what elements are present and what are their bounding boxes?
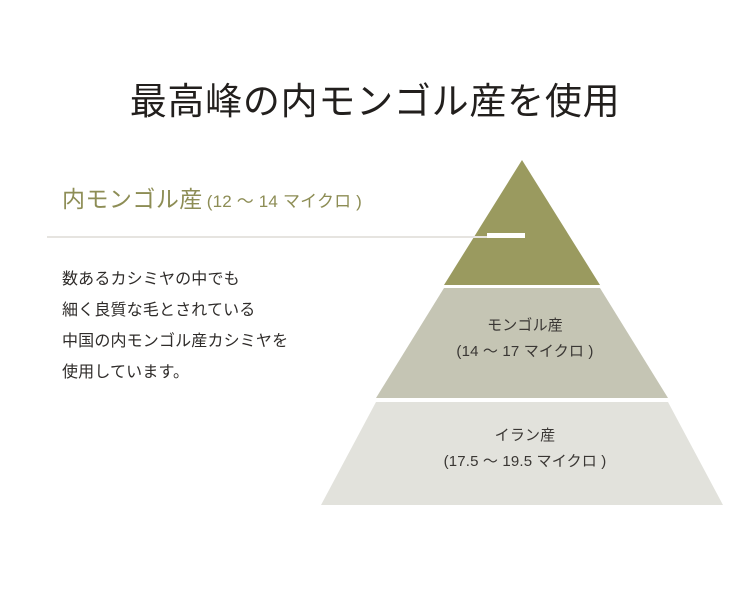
callout-leader-notch: [487, 233, 525, 238]
callout-body-line: 細く良質な毛とされている: [62, 295, 402, 326]
page-title: 最高峰の内モンゴル産を使用: [0, 79, 750, 125]
callout-leader-line: [47, 236, 525, 238]
callout-body-line: 使用しています。: [62, 357, 402, 388]
callout-heading-name: 内モンゴル産: [62, 186, 203, 212]
slide-canvas: 最高峰の内モンゴル産を使用 モンゴル産 (14 〜 17 マイクロ ) イラン産…: [0, 0, 750, 590]
callout-heading: 内モンゴル産(12 〜 14 マイクロ ): [47, 188, 477, 211]
callout-body-text: 数あるカシミヤの中でも 細く良質な毛とされている 中国の内モンゴル産カシミヤを …: [62, 264, 402, 388]
callout-body-line: 数あるカシミヤの中でも: [62, 264, 402, 295]
pyramid-label-mongolia: モンゴル産 (14 〜 17 マイクロ ): [355, 313, 695, 365]
pyramid-label-mongolia-range: (14 〜 17 マイクロ ): [355, 339, 695, 365]
callout-body-line: 中国の内モンゴル産カシミヤを: [62, 326, 402, 357]
pyramid-label-iran: イラン産 (17.5 〜 19.5 マイクロ ): [330, 423, 720, 475]
pyramid-tier-top-inner-mongolia: [444, 160, 600, 285]
pyramid-label-iran-range: (17.5 〜 19.5 マイクロ ): [330, 449, 720, 475]
callout-heading-range: (12 〜 14 マイクロ ): [207, 192, 362, 211]
pyramid-label-iran-name: イラン産: [330, 423, 720, 449]
pyramid-label-mongolia-name: モンゴル産: [355, 313, 695, 339]
inner-mongolia-callout: 内モンゴル産(12 〜 14 マイクロ ): [47, 188, 477, 211]
